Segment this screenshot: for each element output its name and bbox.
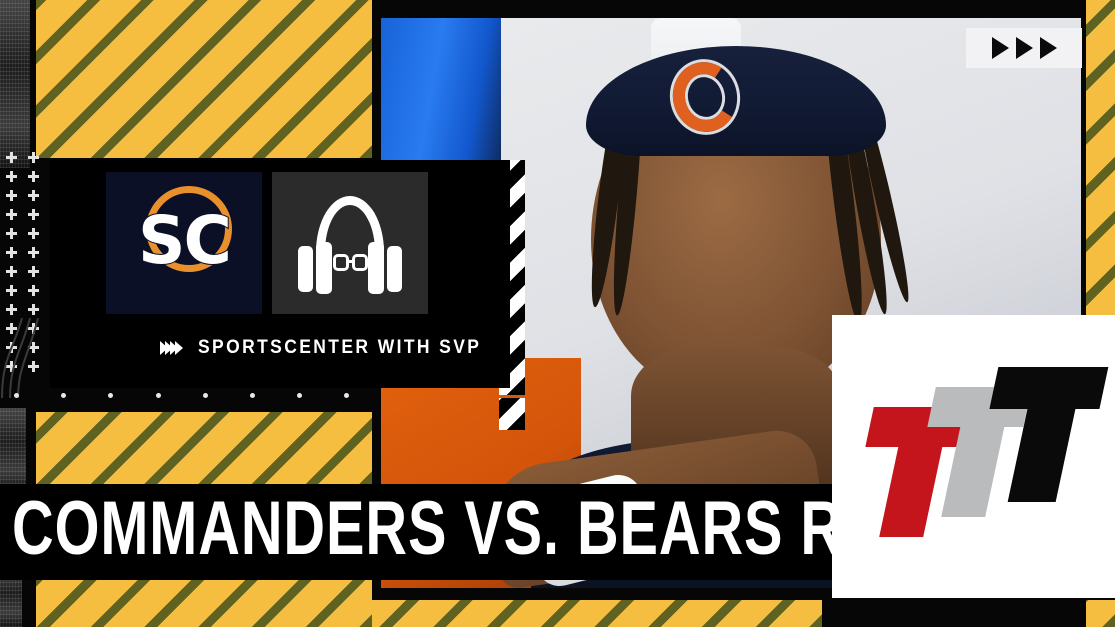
headphones-logo-tile bbox=[272, 172, 428, 314]
play-arrow-icon bbox=[992, 37, 1009, 59]
photo-bg-blue-wall bbox=[381, 18, 511, 178]
sc-logo-tile: SC bbox=[106, 172, 262, 314]
show-logo-card: SC SPORTSCENTER WITH SVP bbox=[50, 160, 510, 388]
ttt-logo-watermark bbox=[832, 315, 1115, 598]
thumbnail-canvas: SC SPORTSCENTER WITH SVP COMMANDERS VS. … bbox=[0, 0, 1115, 627]
chevron-icon bbox=[175, 341, 183, 355]
play-arrow-icon bbox=[1016, 37, 1033, 59]
triple-play-arrows[interactable] bbox=[966, 28, 1082, 68]
sc-logo-text: SC bbox=[106, 208, 262, 274]
gold-stripe-band-bottom bbox=[36, 578, 372, 627]
wire-curves-decor bbox=[0, 318, 40, 398]
play-arrow-icon bbox=[1040, 37, 1057, 59]
gold-stripe-block-middle-left bbox=[36, 412, 372, 484]
gold-stripe-band-bottom-right bbox=[372, 600, 822, 627]
show-name-label: SPORTSCENTER WITH SVP bbox=[198, 337, 481, 359]
film-texture-strip-mid bbox=[0, 408, 26, 492]
film-texture-strip-top bbox=[0, 0, 30, 168]
show-name-row: SPORTSCENTER WITH SVP bbox=[160, 336, 506, 360]
bw-stripe-bar-lower bbox=[499, 398, 525, 430]
gold-stripe-block-top-left bbox=[36, 0, 372, 158]
headphones-with-glasses-icon bbox=[292, 196, 408, 296]
gold-stripe-corner-bottom-right bbox=[1086, 600, 1115, 627]
